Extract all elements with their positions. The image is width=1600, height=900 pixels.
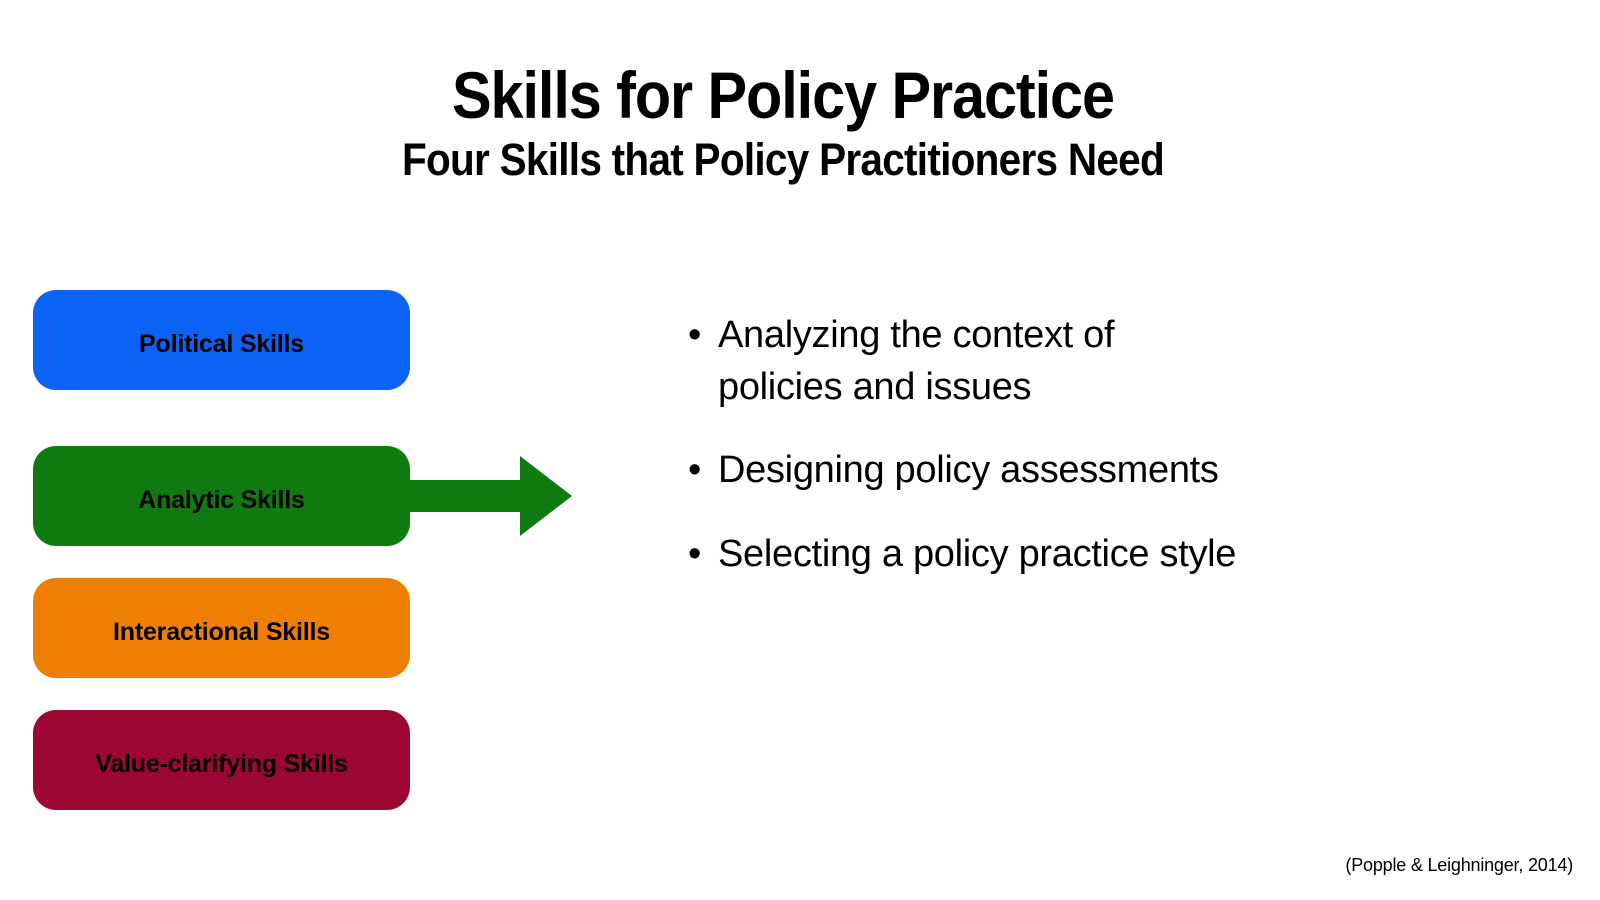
skill-box-label: Political Skills (139, 330, 304, 359)
skill-box-analytic-skills[interactable]: Analytic Skills (33, 446, 410, 546)
list-item-text: Selecting a policy practice style (718, 533, 1236, 575)
skill-box-label: Interactional Skills (113, 618, 330, 647)
list-item: • Selecting a policy practice style (686, 529, 1246, 581)
bullet-icon: • (688, 445, 701, 497)
bullet-icon: • (688, 529, 701, 581)
citation-text: (Popple & Leighninger, 2014) (1345, 855, 1573, 876)
title-block: Skills for Policy Practice Four Skills t… (0, 62, 1566, 182)
arrow-right-icon (396, 440, 586, 552)
bullet-icon: • (688, 310, 701, 362)
page-subtitle: Four Skills that Policy Practitioners Ne… (78, 137, 1487, 182)
skill-box-label: Analytic Skills (138, 486, 305, 515)
list-item-text: Analyzing the context of policies and is… (718, 314, 1114, 408)
skill-box-value-clarifying-skills[interactable]: Value-clarifying Skills (33, 710, 410, 810)
skill-box-political-skills[interactable]: Political Skills (33, 290, 410, 390)
page-title: Skills for Policy Practice (78, 62, 1487, 128)
list-item: • Analyzing the context of policies and … (686, 310, 1246, 413)
list-item: • Designing policy assessments (686, 445, 1246, 497)
skill-box-interactional-skills[interactable]: Interactional Skills (33, 578, 410, 678)
skill-box-label: Value-clarifying Skills (95, 750, 347, 779)
list-item-text: Designing policy assessments (718, 449, 1219, 491)
details-list: • Analyzing the context of policies and … (686, 310, 1246, 581)
slide-canvas: Skills for Policy Practice Four Skills t… (0, 0, 1600, 900)
